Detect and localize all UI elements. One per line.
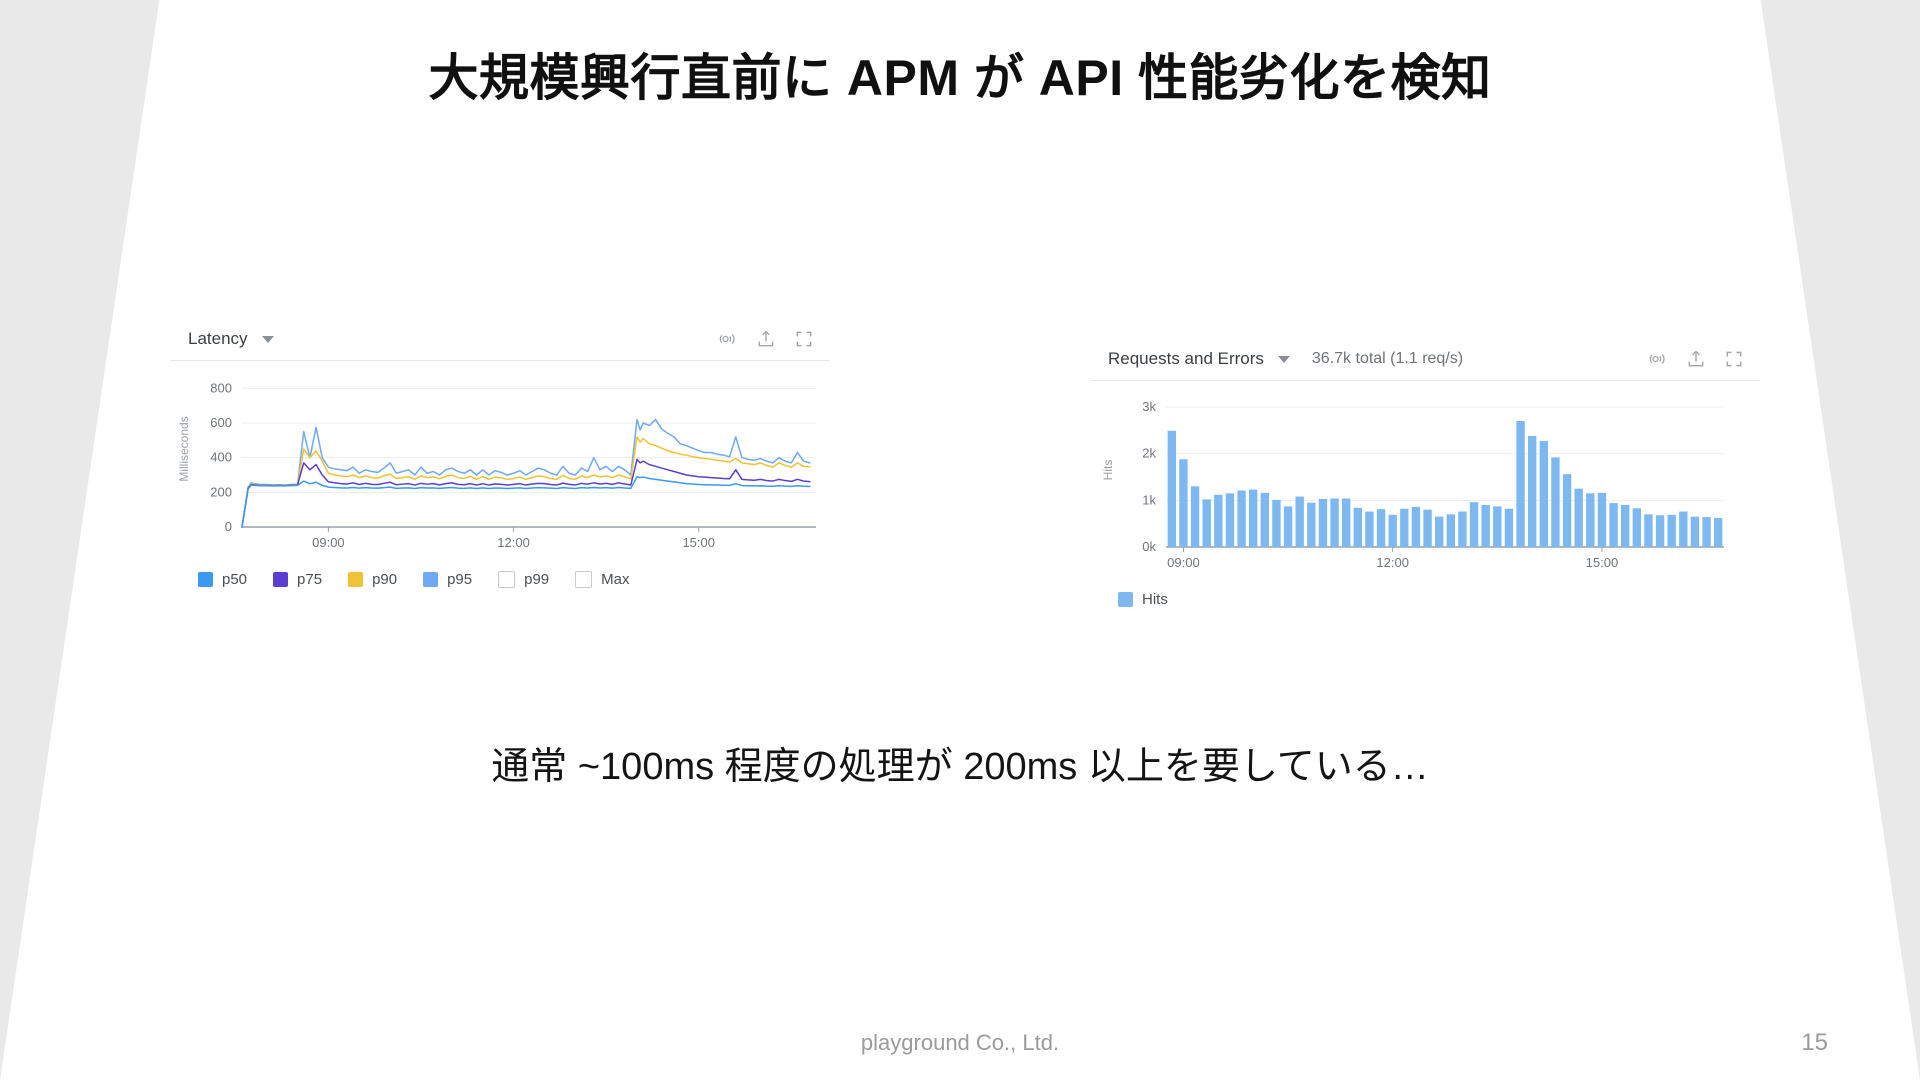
page-number: 15	[1801, 1029, 1828, 1057]
requests-total-label: 36.7k total (1.1 req/s)	[1312, 350, 1463, 368]
legend-swatch-p75-icon[interactable]	[273, 572, 288, 587]
svg-text:600: 600	[210, 415, 232, 430]
legend-item-p95[interactable]: p95	[423, 571, 472, 588]
legend-swatch-p95-icon[interactable]	[423, 572, 438, 587]
legend-swatch-p90-icon[interactable]	[348, 572, 363, 587]
share-upload-icon[interactable]	[1686, 349, 1706, 369]
requests-plot: 0k1k2k3k09:0012:0015:00Hits	[1090, 381, 1760, 581]
legend-swatch-p50-icon[interactable]	[198, 572, 213, 587]
svg-text:0: 0	[225, 519, 232, 534]
svg-text:1k: 1k	[1142, 492, 1156, 507]
broadcast-icon[interactable]	[718, 329, 738, 349]
share-upload-icon[interactable]	[756, 329, 776, 349]
svg-text:400: 400	[210, 450, 232, 465]
svg-text:Hits: Hits	[1101, 460, 1115, 481]
svg-text:12:00: 12:00	[497, 535, 530, 550]
subtitle-text: 通常 ~100ms 程度の処理が 200ms 以上を要している…	[0, 735, 1920, 790]
latency-plot-svg: 020040060080009:0012:0015:00Milliseconds	[170, 361, 830, 561]
legend-label: p95	[447, 571, 472, 588]
svg-text:15:00: 15:00	[1586, 555, 1619, 570]
legend-swatch-p99-icon[interactable]	[498, 571, 515, 588]
svg-text:2k: 2k	[1142, 446, 1156, 461]
legend-label: p50	[222, 571, 247, 588]
legend-swatch-max-icon[interactable]	[575, 571, 592, 588]
legend-swatch-hits-icon[interactable]	[1118, 592, 1133, 607]
legend-label: p75	[297, 571, 322, 588]
svg-text:3k: 3k	[1142, 399, 1156, 414]
latency-card-title[interactable]: Latency	[188, 329, 248, 349]
page-title: 大規模興行直前に APM が API 性能劣化を検知	[0, 38, 1920, 110]
legend-item-p90[interactable]: p90	[348, 571, 397, 588]
svg-text:12:00: 12:00	[1376, 555, 1409, 570]
slide: 大規模興行直前に APM が API 性能劣化を検知 Latency	[0, 0, 1920, 1080]
broadcast-icon[interactable]	[1648, 349, 1668, 369]
fullscreen-icon[interactable]	[1724, 349, 1744, 369]
chevron-down-icon[interactable]	[1278, 356, 1290, 363]
legend-label: Max	[601, 571, 629, 588]
requests-card-title[interactable]: Requests and Errors	[1108, 349, 1264, 369]
legend-label: Hits	[1142, 591, 1168, 608]
svg-text:200: 200	[210, 484, 232, 499]
svg-text:Milliseconds: Milliseconds	[177, 416, 191, 481]
legend-item-p75[interactable]: p75	[273, 571, 322, 588]
requests-plot-svg: 0k1k2k3k09:0012:0015:00Hits	[1090, 381, 1760, 581]
latency-legend: p50p75p90p95p99Max	[170, 571, 830, 588]
svg-text:09:00: 09:00	[312, 535, 345, 550]
fullscreen-icon[interactable]	[794, 329, 814, 349]
svg-text:15:00: 15:00	[682, 535, 715, 550]
svg-text:0k: 0k	[1142, 539, 1156, 554]
footer-company: playground Co., Ltd.	[0, 1030, 1920, 1056]
requests-card-header: Requests and Errors 36.7k total (1.1 req…	[1090, 338, 1760, 381]
svg-text:800: 800	[210, 380, 232, 395]
requests-legend: Hits	[1090, 591, 1760, 608]
legend-label: p90	[372, 571, 397, 588]
legend-item-p99[interactable]: p99	[498, 571, 549, 588]
legend-label: p99	[524, 571, 549, 588]
svg-text:09:00: 09:00	[1167, 555, 1200, 570]
legend-item-p50[interactable]: p50	[198, 571, 247, 588]
latency-plot: 020040060080009:0012:0015:00Milliseconds	[170, 361, 830, 561]
requests-chart-card: Requests and Errors 36.7k total (1.1 req…	[1090, 338, 1760, 628]
chevron-down-icon[interactable]	[262, 336, 274, 343]
latency-card-header: Latency	[170, 318, 830, 361]
legend-item-hits[interactable]: Hits	[1118, 591, 1168, 608]
requests-card-actions	[1648, 349, 1754, 369]
latency-chart-card: Latency	[170, 318, 830, 608]
latency-card-actions	[718, 329, 824, 349]
legend-item-max[interactable]: Max	[575, 571, 629, 588]
